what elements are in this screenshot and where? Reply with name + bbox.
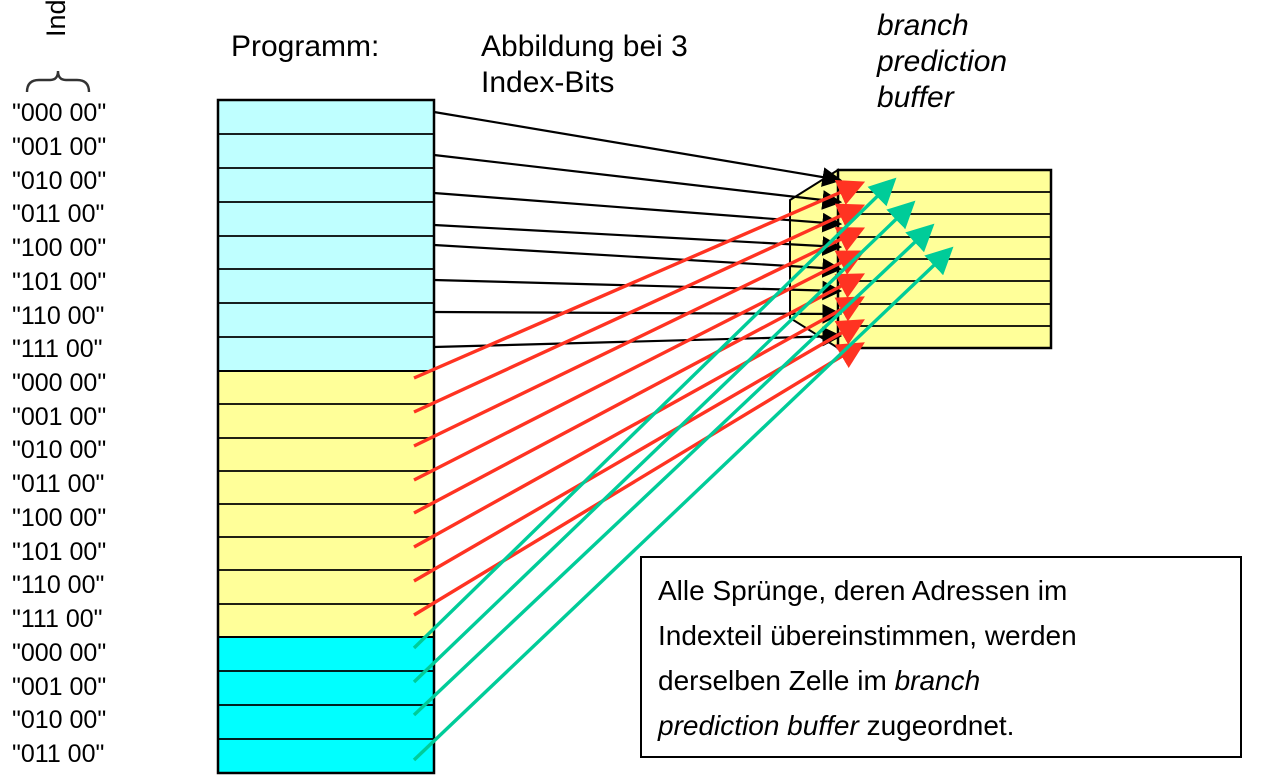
address-label: "001 00" [12,675,106,700]
address-label: "001 00" [12,135,106,160]
note-line-3: derselben Zelle im branch [658,658,1224,703]
note-line-2: Indexteil übereinstimmen, werden [658,613,1224,658]
address-label: "010 00" [12,169,106,194]
address-label: "110 00" [12,573,104,598]
mapping-header: Abbildung bei 3 Index-Bits [481,29,761,101]
note-line-3-em: branch [895,665,981,696]
address-label: "011 00" [12,202,104,227]
address-label: "100 00" [12,236,106,261]
index-axis-label-wrap: Index [7,0,67,88]
address-label: "000 00" [12,101,106,126]
address-label: "101 00" [12,540,106,565]
note-line-1: Alle Sprünge, deren Adressen im [658,568,1224,613]
address-label: "011 00" [12,742,104,767]
note-line-4-em: prediction buffer [658,710,859,741]
arrows-group-a [434,112,840,347]
address-label: "100 00" [12,506,106,531]
address-label: "011 00" [12,472,104,497]
index-axis-label: Index [36,0,76,59]
address-label: "101 00" [12,270,106,295]
program-header: Programm: [231,29,379,65]
program-column [218,100,434,773]
note-line-3-pre: derselben Zelle im [658,665,895,696]
address-label: "001 00" [12,405,106,430]
address-label: "010 00" [12,708,106,733]
note-line-4-post: zugeordnet. [859,710,1015,741]
address-label: "000 00" [12,641,106,666]
address-label: "000 00" [12,371,106,396]
address-label: "111 00" [12,607,103,632]
address-label: "111 00" [12,337,103,362]
diagram-canvas: Index "000 00" "001 00" "010 00" "011 00… [0,0,1261,784]
address-label: "010 00" [12,438,106,463]
note-line-4: prediction buffer zugeordnet. [658,703,1224,748]
buffer-header: branch prediction buffer [877,8,1127,116]
explanation-note: Alle Sprünge, deren Adressen im Indextei… [640,556,1242,758]
address-label: "110 00" [12,304,104,329]
